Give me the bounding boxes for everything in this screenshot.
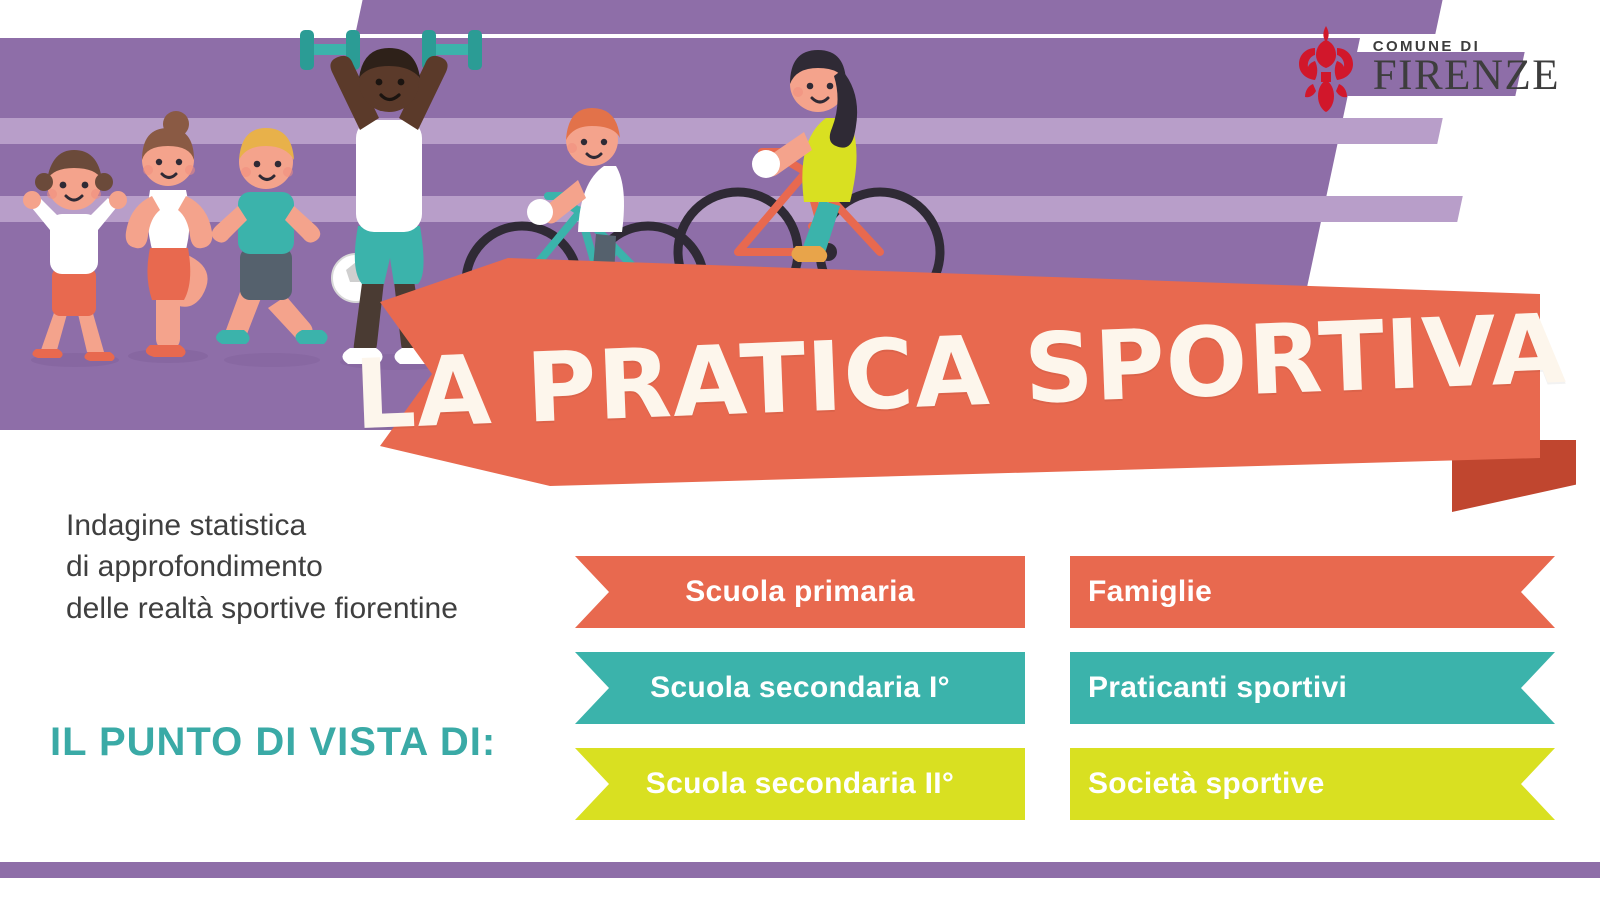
banner-praticanti-sportivi[interactable]: Praticanti sportivi	[1070, 652, 1555, 724]
logo-line-2: FIRENZE	[1373, 54, 1560, 97]
banner-label: Società sportive	[1070, 767, 1555, 801]
page-title: LA PRATICA SPORTIVA	[352, 293, 1568, 451]
banner-label: Praticanti sportivi	[1070, 671, 1555, 705]
banner-famiglie[interactable]: Famiglie	[1070, 556, 1555, 628]
banner-label: Famiglie	[1070, 575, 1555, 609]
banner-scuola-secondaria-1[interactable]: Scuola secondaria I°	[575, 652, 1025, 724]
giglio-fiorentino-icon	[1293, 22, 1359, 114]
infographic-page: COMUNE DI FIRENZE LA PRATICA SPORTIVA In…	[0, 0, 1600, 900]
banner-societa-sportive[interactable]: Società sportive	[1070, 748, 1555, 820]
banner-scuola-primaria[interactable]: Scuola primaria	[575, 556, 1025, 628]
banner-label: Scuola secondaria I°	[575, 671, 1025, 705]
girl-cheering-figure	[23, 150, 127, 367]
comune-di-firenze-logo: COMUNE DI FIRENZE	[1293, 22, 1560, 114]
subtitle-text: Indagine statistica di approfondimento d…	[66, 505, 586, 629]
ribbon-title-wrapper: LA PRATICA SPORTIVA	[380, 258, 1540, 486]
title-ribbon: LA PRATICA SPORTIVA	[380, 258, 1570, 508]
banner-scuola-secondaria-2[interactable]: Scuola secondaria II°	[575, 748, 1025, 820]
point-of-view-label: IL PUNTO DI VISTA DI:	[50, 720, 496, 765]
woman-yoga-figure	[126, 111, 213, 363]
banner-label: Scuola primaria	[575, 575, 1025, 609]
bottom-purple-strip	[0, 862, 1600, 878]
banner-column-left: Scuola primaria Scuola secondaria I° Scu…	[575, 556, 1025, 844]
banner-label: Scuola secondaria II°	[575, 767, 1025, 801]
banner-column-right: Famiglie Praticanti sportivi Società spo…	[1070, 556, 1555, 844]
boy-football-figure	[212, 128, 380, 367]
